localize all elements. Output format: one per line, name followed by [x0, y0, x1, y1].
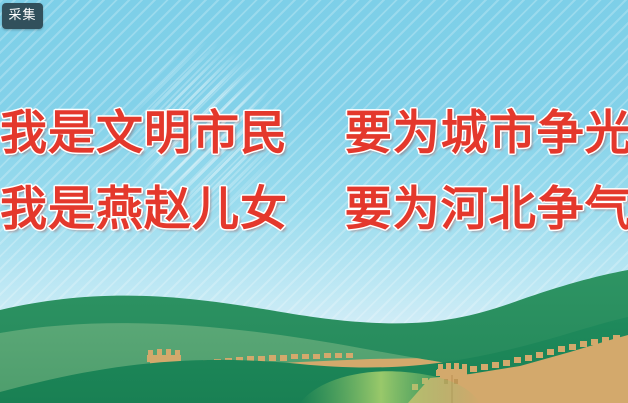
slogan-line-1-right: 要为城市争光: [345, 106, 628, 161]
poster-image: 我是文明市民 要为城市争光 我是燕赵儿女 要为河北争气 采集: [0, 0, 628, 403]
slogan-line-2-left: 我是燕赵儿女: [0, 182, 288, 237]
slogan-line-1-left: 我是文明市民: [0, 106, 288, 161]
slogan-line-2-right: 要为河北争气: [345, 182, 628, 237]
slogan-line-2: 我是燕赵儿女 要为河北争气: [0, 172, 628, 248]
slogan-block: 我是文明市民 要为城市争光 我是燕赵儿女 要为河北争气: [0, 96, 628, 248]
capture-button[interactable]: 采集: [2, 3, 43, 29]
slogan-line-1: 我是文明市民 要为城市争光: [0, 96, 628, 172]
